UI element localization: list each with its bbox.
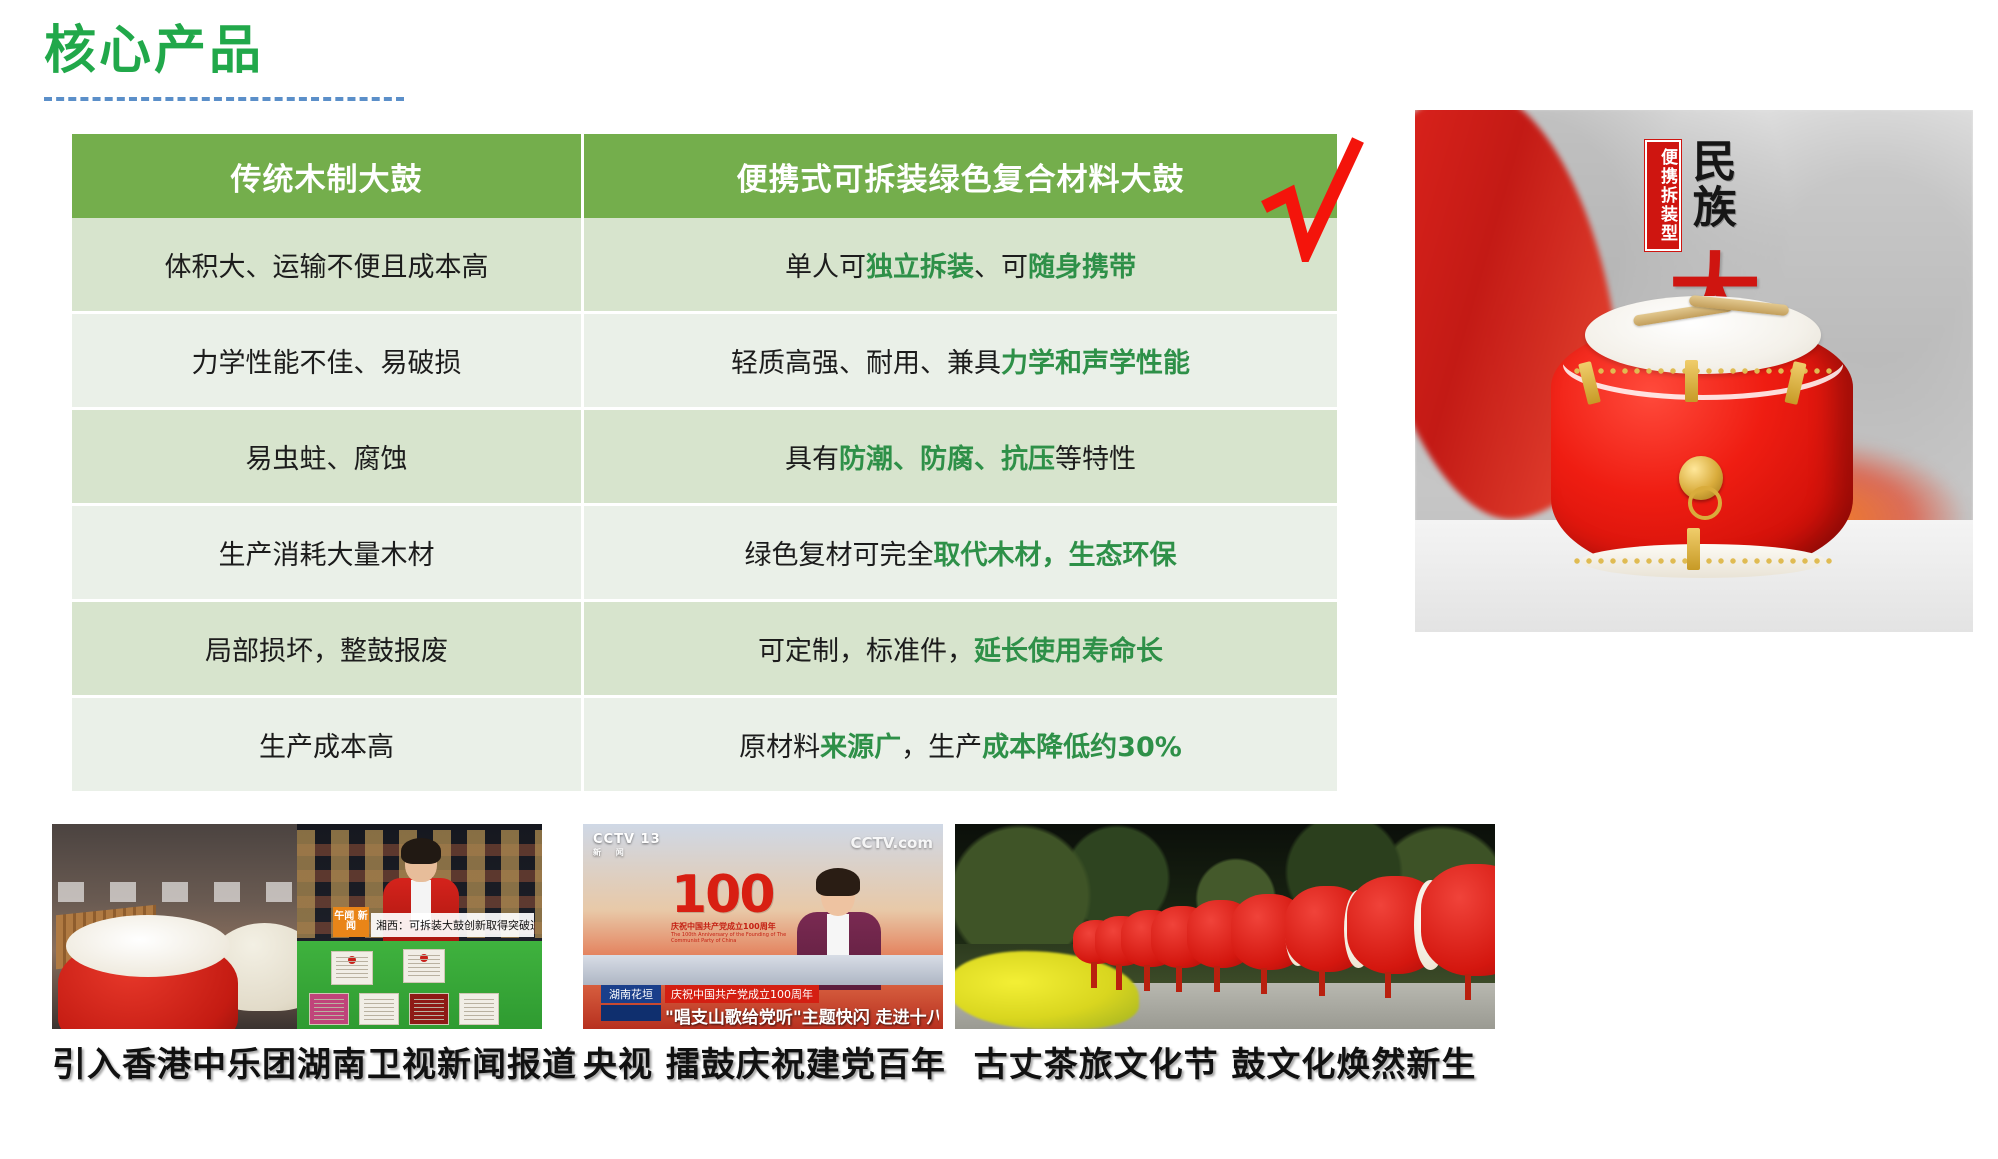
table-cell-composite: 可定制，标准件，延长使用寿命长 bbox=[584, 602, 1337, 698]
gallery-item-cctv: CCTV 13 新 闻 CCTV.com 100 庆祝中国共产党成立100周年 … bbox=[583, 824, 946, 1086]
page-title: 核心产品 bbox=[44, 20, 264, 82]
plain-text: 单人可 bbox=[785, 252, 866, 283]
emblem-number: 100 bbox=[671, 872, 801, 919]
table-cell-composite: 绿色复材可完全取代木材，生态环保 bbox=[584, 506, 1337, 602]
table-header-traditional: 传统木制大鼓 bbox=[72, 134, 584, 218]
certificate bbox=[309, 993, 349, 1025]
headline-main: "唱支山歌给党听"主题快闪 走进十八洞村 bbox=[665, 1003, 939, 1027]
festival-drum-stand bbox=[1091, 962, 1097, 988]
hero-title-top: 民族 bbox=[1687, 138, 1733, 230]
table-row: 生产消耗大量木材绿色复材可完全取代木材，生态环保 bbox=[72, 506, 1337, 602]
table-header-composite: 便携式可拆装绿色复合材料大鼓 bbox=[584, 134, 1337, 218]
table-cell-composite: 单人可独立拆装、可随身携带 bbox=[584, 218, 1337, 314]
cctv-channel-name: CCTV 13 bbox=[593, 832, 661, 847]
location-tag-sub bbox=[601, 1005, 661, 1021]
table-cell-composite: 轻质高强、耐用、兼具力学和声学性能 bbox=[584, 314, 1337, 410]
slide-root: 核心产品 传统木制大鼓便携式可拆装绿色复合材料大鼓体积大、运输不便且成本高单人可… bbox=[0, 0, 1998, 1159]
table-cell-traditional: 局部损坏，整鼓报废 bbox=[72, 602, 584, 698]
gallery-caption: 央视 擂鼓庆祝建党百年 bbox=[583, 1037, 946, 1086]
gallery-thumb-orchestra bbox=[52, 824, 297, 1029]
plain-text: 具有 bbox=[785, 444, 839, 475]
plain-text: 、可 bbox=[974, 252, 1028, 283]
gallery-thumb-festival bbox=[955, 824, 1495, 1029]
emblem-caption: 庆祝中国共产党成立100周年 bbox=[671, 921, 801, 932]
highlighted-text: 来源广 bbox=[820, 732, 901, 763]
highlighted-text: 随身携带 bbox=[1028, 252, 1136, 283]
headline-top: 庆祝中国共产党成立100周年 bbox=[665, 985, 819, 1003]
hero-product-image: 便携拆装型 民族 大鼓 bbox=[1415, 110, 1973, 632]
cctv-channel-logo: CCTV 13 新 闻 bbox=[593, 832, 661, 858]
highlighted-text: 独立拆装 bbox=[866, 252, 974, 283]
table-row: 易虫蛀、腐蚀具有防潮、防腐、抗压等特性 bbox=[72, 410, 1337, 506]
hero-vertical-label: 便携拆装型 bbox=[1645, 140, 1681, 251]
certificate bbox=[459, 993, 499, 1025]
drum-latch bbox=[1687, 528, 1700, 570]
gallery-caption: 引入香港中乐团 bbox=[52, 1037, 297, 1086]
festival-drum-stand bbox=[1144, 965, 1150, 991]
table-cell-traditional: 生产成本高 bbox=[72, 698, 584, 794]
table-row: 生产成本高原材料来源广，生产成本降低约30% bbox=[72, 698, 1337, 794]
festival-drum-stand bbox=[1465, 974, 1471, 1000]
image-gallery: 引入香港中乐团 午闻 新闻 bbox=[0, 812, 1998, 1159]
big-drum-head bbox=[66, 915, 230, 977]
news-desk bbox=[583, 955, 943, 985]
festival-drum-stand bbox=[1385, 972, 1391, 998]
gallery-item-festival: 古丈茶旅文化节 鼓文化焕然新生 bbox=[955, 824, 1495, 1086]
table-row: 力学性能不佳、易破损轻质高强、耐用、兼具力学和声学性能 bbox=[72, 314, 1337, 410]
news-ticker: 湘西：可拆装大鼓创新取得突破进展 bbox=[371, 913, 534, 937]
news-anchor-hair bbox=[816, 868, 860, 896]
cctv-watermark: CCTV.com bbox=[851, 834, 933, 852]
table-row: 局部损坏，整鼓报废可定制，标准件，延长使用寿命长 bbox=[72, 602, 1337, 698]
drum-latch bbox=[1685, 360, 1698, 402]
table-cell-traditional: 生产消耗大量木材 bbox=[72, 506, 584, 602]
festival-drum-stand bbox=[1319, 970, 1325, 996]
plain-text: ，生产 bbox=[901, 732, 982, 763]
gallery-item-orchestra: 引入香港中乐团 bbox=[52, 824, 297, 1086]
gallery-caption: 湖南卫视新闻报道 bbox=[297, 1037, 577, 1086]
program-badge: 午闻 新闻 bbox=[333, 907, 369, 937]
lower-frame bbox=[297, 941, 542, 1029]
festival-drum-stand bbox=[1116, 964, 1122, 990]
table-cell-composite: 具有防潮、防腐、抗压等特性 bbox=[584, 410, 1337, 506]
location-tag: 湖南花垣 bbox=[601, 985, 661, 1003]
plain-text: 可定制，标准件， bbox=[758, 636, 974, 667]
emblem-caption-en: The 100th Anniversary of the Founding of… bbox=[671, 932, 801, 945]
table-header-row: 传统木制大鼓便携式可拆装绿色复合材料大鼓 bbox=[72, 134, 1337, 218]
news-anchor-hair bbox=[401, 838, 441, 864]
gallery-thumb-hntv: 午闻 新闻 湘西：可拆装大鼓创新取得突破进展 bbox=[297, 824, 542, 1029]
festival-drum-stand bbox=[1214, 966, 1220, 992]
certificate bbox=[331, 951, 373, 985]
drum-studs-bottom bbox=[1571, 556, 1835, 566]
table-row: 体积大、运输不便且成本高单人可独立拆装、可随身携带 bbox=[72, 218, 1337, 314]
gallery-thumb-cctv: CCTV 13 新 闻 CCTV.com 100 庆祝中国共产党成立100周年 … bbox=[583, 824, 943, 1029]
gallery-item-hntv: 午闻 新闻 湘西：可拆装大鼓创新取得突破进展 湖南卫视新闻报道 bbox=[297, 824, 577, 1086]
table-cell-traditional: 体积大、运输不便且成本高 bbox=[72, 218, 584, 314]
table-cell-traditional: 力学性能不佳、易破损 bbox=[72, 314, 584, 410]
certificate bbox=[359, 993, 399, 1025]
highlighted-text: 取代木材，生态环保 bbox=[934, 540, 1177, 571]
plain-text: 轻质高强、耐用、兼具 bbox=[731, 348, 1001, 379]
plain-text: 绿色复材可完全 bbox=[745, 540, 934, 571]
comparison-table: 传统木制大鼓便携式可拆装绿色复合材料大鼓体积大、运输不便且成本高单人可独立拆装、… bbox=[72, 134, 1337, 794]
table-cell-traditional: 易虫蛀、腐蚀 bbox=[72, 410, 584, 506]
gallery-caption: 古丈茶旅文化节 鼓文化焕然新生 bbox=[955, 1037, 1495, 1086]
seal-icon bbox=[420, 954, 428, 962]
highlighted-text: 成本降低约30% bbox=[982, 732, 1182, 763]
cctv-channel-sub: 新 闻 bbox=[593, 847, 661, 858]
drum-handle-ring bbox=[1679, 456, 1723, 500]
festival-drum bbox=[1421, 864, 1495, 976]
table-cell-composite: 原材料来源广，生产成本降低约30% bbox=[584, 698, 1337, 794]
festival-drum-stand bbox=[1261, 968, 1267, 994]
certificate bbox=[409, 993, 449, 1025]
party-centenary-emblem: 100 庆祝中国共产党成立100周年 The 100th Anniversary… bbox=[671, 872, 801, 944]
seal-icon bbox=[348, 956, 356, 964]
highlighted-text: 防潮、防腐、抗压 bbox=[839, 444, 1055, 475]
highlighted-text: 力学和声学性能 bbox=[1001, 348, 1190, 379]
plain-text: 等特性 bbox=[1055, 444, 1136, 475]
certificate bbox=[403, 949, 445, 983]
title-underline-rule bbox=[44, 97, 404, 101]
drum-illustration bbox=[1537, 288, 1867, 588]
festival-drum-stand bbox=[1176, 966, 1182, 992]
plain-text: 原材料 bbox=[739, 732, 820, 763]
highlighted-text: 延长使用寿命长 bbox=[974, 636, 1163, 667]
